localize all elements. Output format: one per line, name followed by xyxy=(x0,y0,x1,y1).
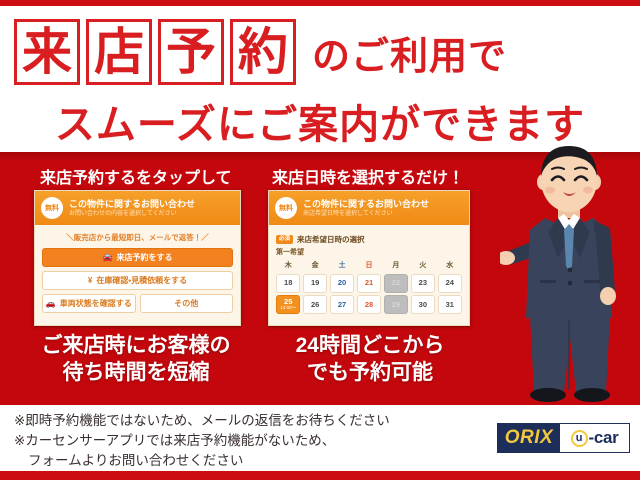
secondary-button-row: 🚗 車両状態を確認する その他 xyxy=(42,294,233,313)
car-outline-icon: 🚗 xyxy=(46,299,56,308)
kanji-box-4: 約 xyxy=(230,19,296,85)
vehicle-condition-button[interactable]: 🚗 車両状態を確認する xyxy=(42,294,136,313)
headline-tail: のご利用で xyxy=(312,25,507,80)
calendar-day-cell[interactable]: 23 xyxy=(411,274,435,293)
calendar-header-subtitle: 来店希望日時を選択してください xyxy=(303,210,463,218)
disclaimer-line-2: ※カーセンサーアプリでは来店予約機能がないため、 xyxy=(14,431,484,451)
required-badge: 必須 xyxy=(276,235,293,244)
right-caption-line2: でも予約可能 xyxy=(262,359,478,386)
inquiry-form-mockup: 無料 この物件に関するお問い合わせ お問い合わせの内容を選択してください ＼販売… xyxy=(34,190,241,326)
calendar-day-number: 30 xyxy=(419,301,427,309)
calendar-day-number: 24 xyxy=(446,279,454,287)
calendar-day-cell[interactable]: 27 xyxy=(330,295,354,314)
calendar-day-cell[interactable]: 24 xyxy=(438,274,462,293)
calendar-day-cell[interactable]: 31 xyxy=(438,295,462,314)
other-label: その他 xyxy=(174,298,198,309)
calendar-weekday: 木 xyxy=(276,260,300,271)
free-badge: 無料 xyxy=(275,197,297,219)
calendar-weekday: 水 xyxy=(438,260,462,271)
calendar-weekday: 火 xyxy=(411,260,435,271)
businessman-illustration xyxy=(500,140,640,405)
calendar-section-label: 必須 来店希望日時の選択 xyxy=(276,234,462,245)
car-icon: 🚘 xyxy=(103,253,113,262)
calendar-weekday: 日 xyxy=(357,260,381,271)
left-panel-title: 来店予約するをタップして xyxy=(40,164,232,188)
orix-wordmark: ORIX xyxy=(498,424,560,452)
calendar-day-number: 22 xyxy=(392,279,400,287)
kanji-box-2: 店 xyxy=(86,19,152,85)
bottom-rule xyxy=(0,471,640,480)
calendar-day-cell[interactable]: 28 xyxy=(357,295,381,314)
left-caption-line1: ご来店時にお客様の xyxy=(16,332,256,359)
calendar-section-title: 来店希望日時の選択 xyxy=(297,234,365,245)
calendar-day-cell[interactable]: 2514:00〜 xyxy=(276,295,300,314)
calendar-day-number: 31 xyxy=(446,301,454,309)
stock-quote-button[interactable]: ¥ 在庫確認・見積依頼をする xyxy=(42,271,233,290)
vehicle-condition-label: 車両状態を確認する xyxy=(60,298,132,309)
disclaimer-line-1: ※即時予約機能ではないため、メールの返信をお待ちください xyxy=(14,411,484,431)
calendar-weekday: 金 xyxy=(303,260,327,271)
disclaimer-notes: ※即時予約機能ではないため、メールの返信をお待ちください ※カーセンサーアプリで… xyxy=(14,411,484,471)
inquiry-form-header: 無料 この物件に関するお問い合わせ お問い合わせの内容を選択してください xyxy=(35,191,240,225)
calendar-day-cell[interactable]: 26 xyxy=(303,295,327,314)
calendar-body: 必須 来店希望日時の選択 第一希望 木金土日月火水 18192021222324… xyxy=(269,225,469,320)
calendar-day-number: 23 xyxy=(419,279,427,287)
kanji-box-3: 予 xyxy=(158,19,224,85)
inquiry-form-body: ＼販売店から最短即日、メールで返答！／ 🚘 来店予約をする ¥ 在庫確認・見積依… xyxy=(35,225,240,319)
left-caption: ご来店時にお客様の 待ち時間を短縮 xyxy=(16,332,256,386)
calendar-header: 無料 この物件に関するお問い合わせ 来店希望日時を選択してください xyxy=(269,191,469,225)
orix-ucar-logo: ORIX u -car xyxy=(497,423,630,453)
left-caption-line2: 待ち時間を短縮 xyxy=(16,359,256,386)
calendar-weekday: 月 xyxy=(384,260,408,271)
calendar-day-cell[interactable]: 19 xyxy=(303,274,327,293)
calendar-header-title: この物件に関するお問い合わせ xyxy=(303,199,463,210)
inquiry-header-subtitle: お問い合わせの内容を選択してください xyxy=(69,210,234,218)
promo-banner: 来 店 予 約 のご利用で スムーズにご案内ができます 来店予約するをタップして… xyxy=(0,0,640,480)
reserve-visit-label: 来店予約をする xyxy=(116,252,172,263)
calendar-day-cell[interactable]: 21 xyxy=(357,274,381,293)
calendar-mockup: 無料 この物件に関するお問い合わせ 来店希望日時を選択してください 必須 来店希… xyxy=(268,190,470,326)
calendar-day-number: 26 xyxy=(311,301,319,309)
preference-label: 第一希望 xyxy=(276,247,462,257)
calendar-weekday: 土 xyxy=(330,260,354,271)
calendar-day-number: 20 xyxy=(338,279,346,287)
calendar-day-number: 28 xyxy=(365,301,373,309)
calendar-day-number: 29 xyxy=(392,301,400,309)
headline-section: 来 店 予 約 のご利用で スムーズにご案内ができます xyxy=(0,6,640,152)
other-button[interactable]: その他 xyxy=(140,294,234,313)
calendar-day-number: 27 xyxy=(338,301,346,309)
calendar-day-cell[interactable]: 30 xyxy=(411,295,435,314)
calendar-day-time: 14:00〜 xyxy=(280,306,296,311)
inquiry-header-title: この物件に関するお問い合わせ xyxy=(69,199,234,210)
right-panel-title: 来店日時を選択するだけ！ xyxy=(272,164,464,188)
inquiry-header-text: この物件に関するお問い合わせ お問い合わせの内容を選択してください xyxy=(69,199,234,218)
promo-line: ＼販売店から最短即日、メールで返答！／ xyxy=(42,232,233,243)
calendar-day-grid[interactable]: 181920212223242514:00〜262728293031 xyxy=(276,274,462,315)
ucar-text: -car xyxy=(589,428,619,448)
disclaimer-line-3: フォームよりお問い合わせください xyxy=(14,451,484,471)
calendar-weekday-row: 木金土日月火水 xyxy=(276,260,462,271)
stock-quote-label: 在庫確認・見積依頼をする xyxy=(96,275,187,286)
calendar-day-cell[interactable]: 18 xyxy=(276,274,300,293)
free-badge: 無料 xyxy=(41,197,63,219)
reserve-visit-button[interactable]: 🚘 来店予約をする xyxy=(42,248,233,267)
ucar-wordmark: u -car xyxy=(560,424,629,452)
right-caption-line1: 24時間どこから xyxy=(262,332,478,359)
calendar-day-cell: 22 xyxy=(384,274,408,293)
calendar-day-number: 18 xyxy=(284,279,292,287)
kanji-box-1: 来 xyxy=(14,19,80,85)
headline-line1: 来 店 予 約 のご利用で xyxy=(14,14,626,90)
calendar-day-number: 19 xyxy=(311,279,319,287)
right-caption: 24時間どこから でも予約可能 xyxy=(262,332,478,386)
calendar-header-text: この物件に関するお問い合わせ 来店希望日時を選択してください xyxy=(303,199,463,218)
u-circle-icon: u xyxy=(571,430,588,447)
yen-icon: ¥ xyxy=(88,276,92,285)
calendar-day-cell[interactable]: 20 xyxy=(330,274,354,293)
calendar-day-number: 21 xyxy=(365,279,373,287)
calendar-day-cell: 29 xyxy=(384,295,408,314)
